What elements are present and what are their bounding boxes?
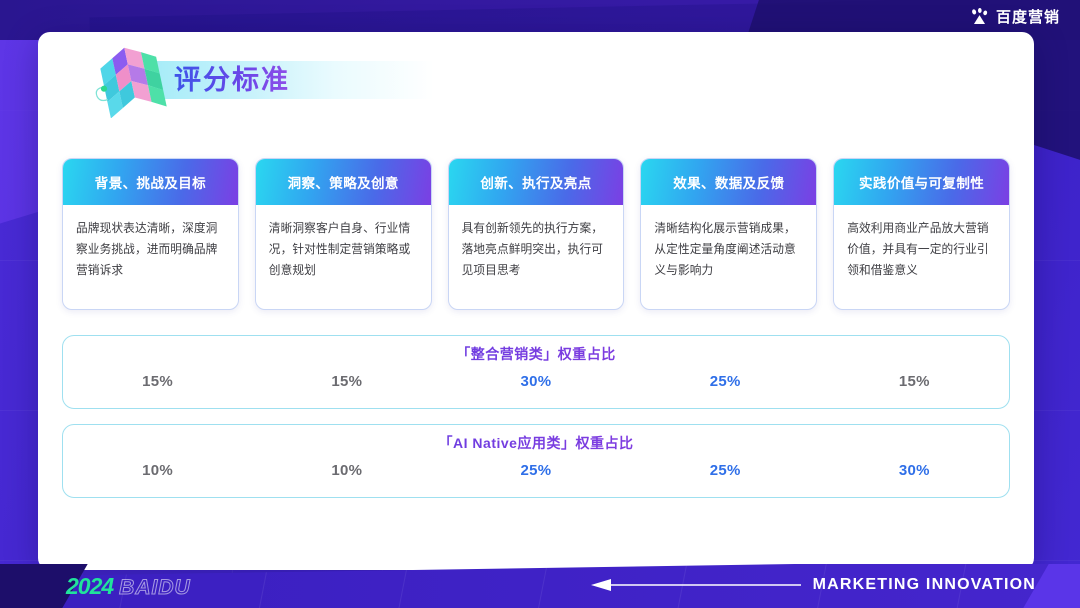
- weight-value: 10%: [252, 462, 441, 479]
- weight-value: 25%: [631, 462, 820, 479]
- criteria-card: 效果、数据及反馈 清晰结构化展示营销成果，从定性定量角度阐述活动意义与影响力: [640, 158, 817, 310]
- content-panel: 评分标准 背景、挑战及目标 品牌现状表达清晰，深度洞察业务挑战，进而明确品牌营销…: [38, 32, 1034, 570]
- weight-value-list: 15% 15% 30% 25% 15%: [63, 373, 1009, 390]
- slide-footer: 2024 BAIDU MARKETING INNOVATION: [0, 564, 1080, 608]
- left-arrow-icon: [591, 579, 801, 591]
- criteria-card-body: 清晰结构化展示营销成果，从定性定量角度阐述活动意义与影响力: [641, 205, 816, 309]
- weight-value-list: 10% 10% 25% 25% 30%: [63, 462, 1009, 479]
- weight-value: 30%: [820, 462, 1009, 479]
- page-title-row: 评分标准: [66, 44, 586, 114]
- weight-row-integrated-marketing: 「整合营销类」权重占比 15% 15% 30% 25% 15%: [62, 335, 1010, 409]
- criteria-card-list: 背景、挑战及目标 品牌现状表达清晰，深度洞察业务挑战，进而明确品牌营销诉求 洞察…: [62, 158, 1010, 310]
- criteria-card-heading: 实践价值与可复制性: [834, 159, 1009, 205]
- rubiks-cube-icon: [92, 44, 170, 118]
- footer-brand-block: 2024 BAIDU: [66, 573, 191, 600]
- criteria-card: 背景、挑战及目标 品牌现状表达清晰，深度洞察业务挑战，进而明确品牌营销诉求: [62, 158, 239, 310]
- criteria-card-body: 品牌现状表达清晰，深度洞察业务挑战，进而明确品牌营销诉求: [63, 205, 238, 309]
- weight-row-title: 「整合营销类」权重占比: [63, 344, 1009, 364]
- weight-value: 25%: [441, 462, 630, 479]
- criteria-card-body: 清晰洞察客户自身、行业情况，针对性制定营销策略或创意规划: [256, 205, 431, 309]
- footer-tagline-text: MARKETING INNOVATION: [813, 576, 1036, 593]
- criteria-card-body: 具有创新领先的执行方案，落地亮点鲜明突出，执行可见项目思考: [449, 205, 624, 309]
- criteria-card-heading: 效果、数据及反馈: [641, 159, 816, 205]
- logo-text: 百度营销: [996, 6, 1060, 27]
- footer-tagline: MARKETING INNOVATION: [813, 576, 1036, 594]
- baidu-marketing-logo: 百度营销: [970, 6, 1060, 27]
- weight-value: 15%: [63, 373, 252, 390]
- footer-tagline-block: MARKETING INNOVATION: [591, 576, 1036, 594]
- weight-value: 25%: [631, 373, 820, 390]
- criteria-card-heading: 洞察、策略及创意: [256, 159, 431, 205]
- criteria-card-heading: 背景、挑战及目标: [63, 159, 238, 205]
- baidu-paw-icon: [970, 7, 989, 26]
- criteria-card-body: 高效利用商业产品放大营销价值，并具有一定的行业引领和借鉴意义: [834, 205, 1009, 309]
- footer-brand: BAIDU: [119, 576, 191, 600]
- page-title: 评分标准: [174, 62, 290, 98]
- weight-row-ai-native: 「AI Native应用类」权重占比 10% 10% 25% 25% 30%: [62, 424, 1010, 498]
- criteria-card: 实践价值与可复制性 高效利用商业产品放大营销价值，并具有一定的行业引领和借鉴意义: [833, 158, 1010, 310]
- weight-value: 15%: [252, 373, 441, 390]
- criteria-card-heading: 创新、执行及亮点: [449, 159, 624, 205]
- footer-year: 2024: [66, 573, 113, 600]
- weight-value: 15%: [820, 373, 1009, 390]
- weight-value: 30%: [441, 373, 630, 390]
- criteria-card: 洞察、策略及创意 清晰洞察客户自身、行业情况，针对性制定营销策略或创意规划: [255, 158, 432, 310]
- weight-value: 10%: [63, 462, 252, 479]
- weight-row-title: 「AI Native应用类」权重占比: [63, 433, 1009, 453]
- criteria-card: 创新、执行及亮点 具有创新领先的执行方案，落地亮点鲜明突出，执行可见项目思考: [448, 158, 625, 310]
